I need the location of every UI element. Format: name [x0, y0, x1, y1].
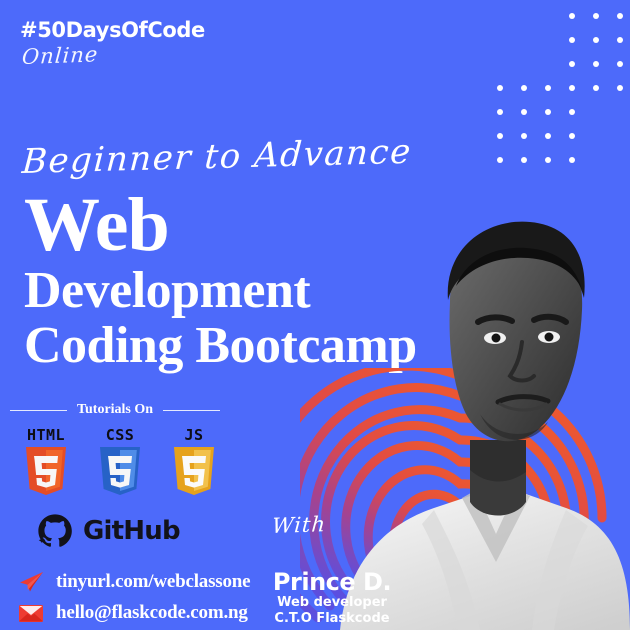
tech-logo-list: HTML CSS JS	[20, 428, 220, 499]
grid-dot	[593, 13, 599, 19]
grid-dot	[569, 61, 575, 67]
grid-dot	[593, 37, 599, 43]
logo-item-css: CSS	[94, 428, 146, 499]
grid-dot	[521, 109, 527, 115]
promo-poster: #50DaysOfCode Online Beginner to Advance…	[0, 0, 630, 630]
grid-dot	[617, 13, 623, 19]
logo-item-html: HTML	[20, 428, 72, 499]
github-wordmark: GitHub	[83, 516, 180, 546]
presenter-role-line-2: C.T.O Flaskcode	[272, 611, 392, 627]
grid-dot	[593, 61, 599, 67]
css3-logo	[96, 445, 144, 499]
grid-dot	[521, 157, 527, 163]
grid-dot	[497, 85, 503, 91]
delivery-mode-label: Online	[21, 42, 99, 69]
contact-row-link[interactable]: tinyurl.com/webclassone	[18, 566, 250, 597]
presenter-name: Prince D.	[272, 570, 392, 595]
github-octocat-icon	[36, 512, 74, 550]
envelope-icon	[18, 602, 44, 624]
grid-dot	[497, 133, 503, 139]
grid-dot	[545, 109, 551, 115]
campaign-hashtag: #50DaysOfCode	[20, 18, 205, 42]
contact-row-email[interactable]: hello@flaskcode.com.ng	[18, 597, 250, 628]
presenter-portrait	[330, 190, 630, 630]
contact-email-text: hello@flaskcode.com.ng	[56, 602, 248, 624]
paper-plane-icon	[18, 571, 44, 593]
grid-dot	[545, 157, 551, 163]
grid-dot	[497, 109, 503, 115]
grid-dot	[569, 85, 575, 91]
dot-grid-decoration	[470, 0, 630, 175]
contact-list: tinyurl.com/webclassone hello@flaskcode.…	[18, 566, 250, 628]
headline-kicker: Beginner to Advance	[21, 132, 413, 182]
grid-dot	[497, 157, 503, 163]
grid-dot	[569, 133, 575, 139]
rule-left	[10, 410, 67, 411]
logo-caption-js: JS	[184, 428, 203, 443]
tutorials-label: Tutorials On	[77, 402, 153, 418]
grid-dot	[593, 85, 599, 91]
grid-dot	[569, 109, 575, 115]
grid-dot	[521, 85, 527, 91]
grid-dot	[545, 133, 551, 139]
logo-item-js: JS	[168, 428, 220, 499]
grid-dot	[569, 157, 575, 163]
grid-dot	[521, 133, 527, 139]
rule-right	[163, 410, 220, 411]
presenter-role-line-1: Web developer	[272, 595, 392, 611]
grid-dot	[617, 37, 623, 43]
html5-logo	[22, 445, 70, 499]
grid-dot	[617, 85, 623, 91]
javascript-logo	[170, 445, 218, 499]
contact-link-text: tinyurl.com/webclassone	[56, 571, 250, 593]
tutorials-heading: Tutorials On	[10, 402, 220, 418]
grid-dot	[569, 37, 575, 43]
grid-dot	[569, 13, 575, 19]
with-label: With	[271, 512, 327, 538]
logo-caption-html: HTML	[27, 428, 65, 443]
logo-caption-css: CSS	[106, 428, 135, 443]
grid-dot	[545, 85, 551, 91]
grid-dot	[617, 61, 623, 67]
presenter-info: Prince D. Web developer C.T.O Flaskcode	[272, 570, 392, 628]
github-logo-row: GitHub	[36, 512, 180, 550]
